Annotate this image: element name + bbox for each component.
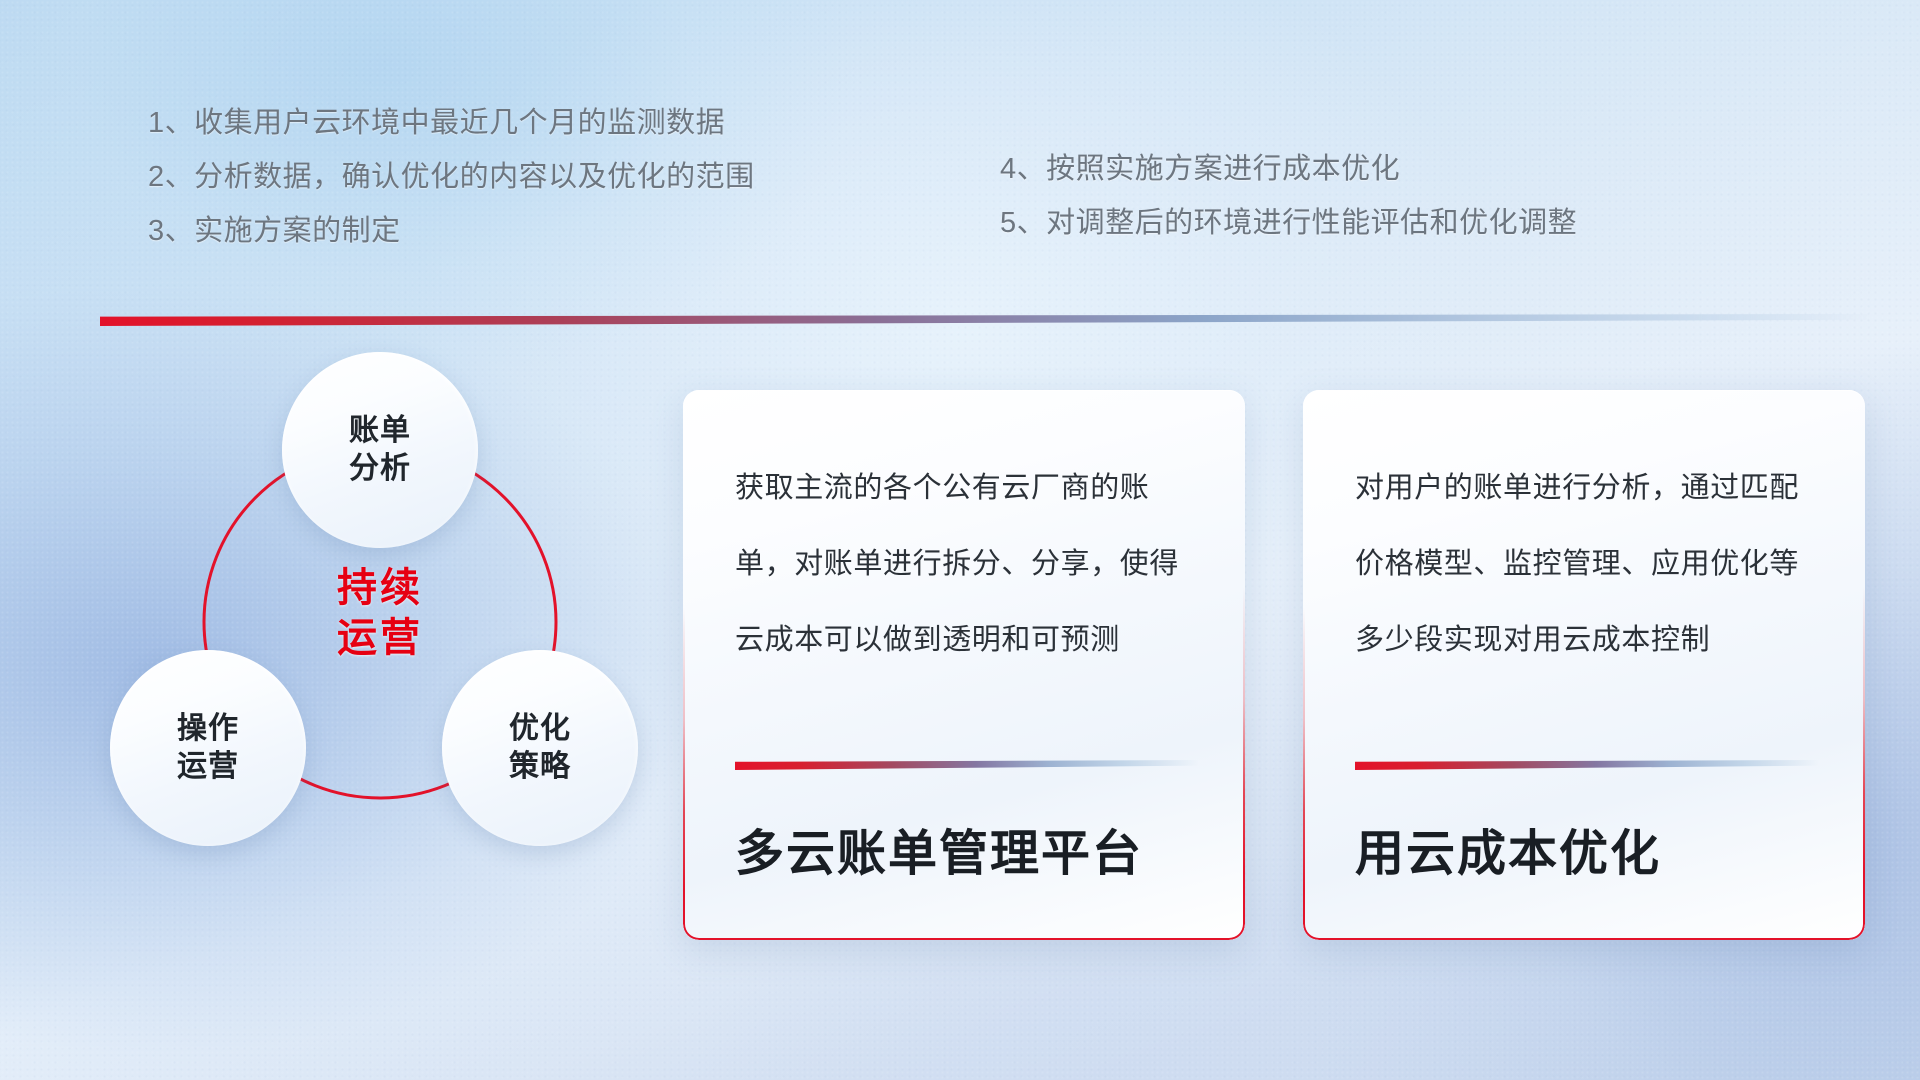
feature-card-title: 多云账单管理平台 [735, 822, 1205, 886]
diagram-node-label-line1: 操作 [177, 710, 239, 748]
continuous-operation-diagram: 账单 分析 操作 运营 优化 策略 持续 运营 [96, 352, 656, 972]
section-divider [100, 314, 1870, 326]
feature-card-rule-bar [1355, 760, 1819, 770]
feature-card-rule [1355, 760, 1819, 770]
step-item-1: 1、收集用户云环境中最近几个月的监测数据 [148, 96, 908, 150]
feature-card-description: 对用户的账单进行分析，通过匹配价格模型、监控管理、应用优化等多少段实现对用云成本… [1355, 450, 1813, 678]
feature-card-multicloud-billing[interactable]: 获取主流的各个公有云厂商的账单，对账单进行拆分、分享，使得云成本可以做到透明和可… [683, 390, 1245, 940]
diagram-node-bill-analysis[interactable]: 账单 分析 [282, 352, 478, 548]
steps-right-column: 4、按照实施方案进行成本优化 5、对调整后的环境进行性能评估和优化调整 [1000, 142, 1820, 250]
step-item-5: 5、对调整后的环境进行性能评估和优化调整 [1000, 196, 1820, 250]
diagram-node-operations[interactable]: 操作 运营 [110, 650, 306, 846]
divider-gradient-bar [100, 314, 1870, 326]
step-item-3: 3、实施方案的制定 [148, 204, 908, 258]
feature-card-rule-bar [735, 760, 1199, 770]
diagram-node-optimization-strategy[interactable]: 优化 策略 [442, 650, 638, 846]
feature-card-description: 获取主流的各个公有云厂商的账单，对账单进行拆分、分享，使得云成本可以做到透明和可… [735, 450, 1193, 678]
feature-card-rule [735, 760, 1199, 770]
diagram-node-label-line1: 优化 [509, 710, 571, 748]
diagram-node-label-line2: 分析 [349, 450, 411, 488]
diagram-node-label-line2: 策略 [509, 748, 571, 786]
slide-canvas: 1、收集用户云环境中最近几个月的监测数据 2、分析数据，确认优化的内容以及优化的… [0, 0, 1920, 1080]
step-item-4: 4、按照实施方案进行成本优化 [1000, 142, 1820, 196]
diagram-node-label-line1: 账单 [349, 412, 411, 450]
step-item-2: 2、分析数据，确认优化的内容以及优化的范围 [148, 150, 908, 204]
steps-left-column: 1、收集用户云环境中最近几个月的监测数据 2、分析数据，确认优化的内容以及优化的… [148, 96, 908, 258]
feature-card-title: 用云成本优化 [1355, 822, 1825, 886]
diagram-node-label-line2: 运营 [177, 748, 239, 786]
feature-card-cloud-cost-optimization[interactable]: 对用户的账单进行分析，通过匹配价格模型、监控管理、应用优化等多少段实现对用云成本… [1303, 390, 1865, 940]
